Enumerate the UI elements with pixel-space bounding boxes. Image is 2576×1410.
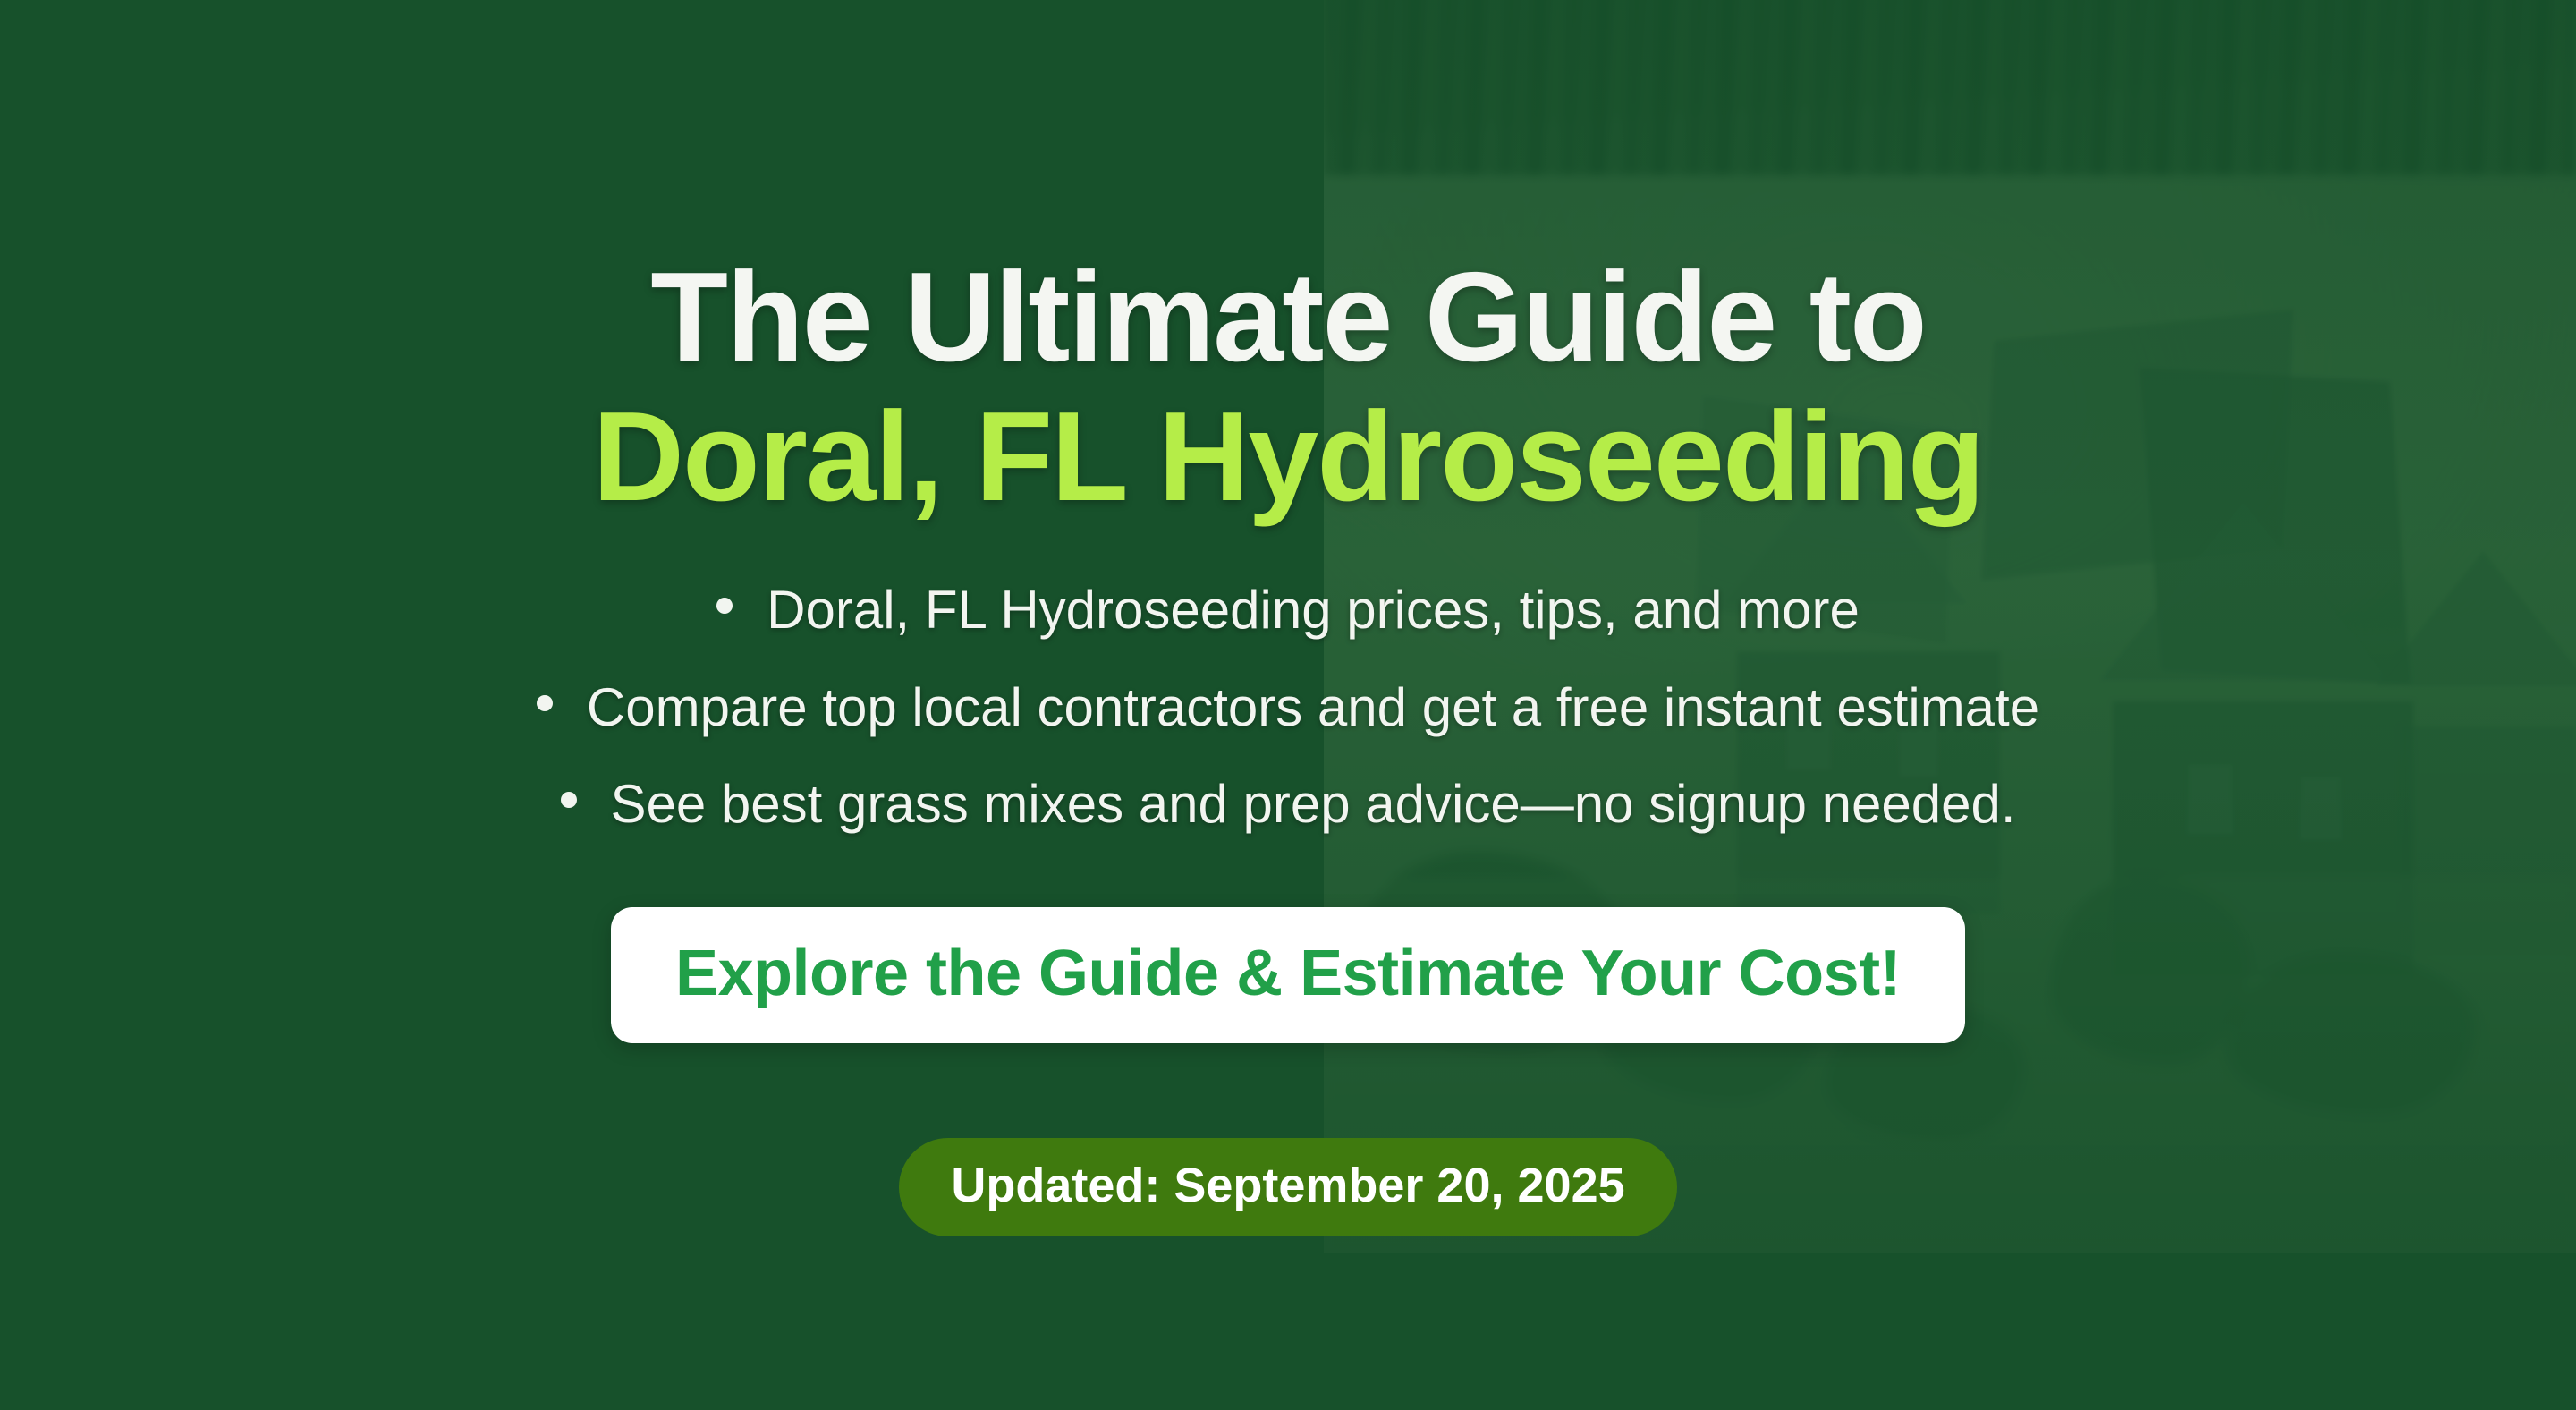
page-title: The Ultimate Guide to Doral, FL Hydrosee…	[0, 248, 2576, 527]
benefit-list: Doral, FL Hydroseeding prices, tips, and…	[0, 582, 2576, 873]
list-item-label: Doral, FL Hydroseeding prices, tips, and…	[767, 580, 1860, 640]
updated-date-badge: Updated: September 20, 2025	[899, 1138, 1676, 1236]
bullet-dot-icon	[716, 598, 733, 614]
hero-banner: The Ultimate Guide to Doral, FL Hydrosee…	[0, 0, 2576, 1410]
list-item: Doral, FL Hydroseeding prices, tips, and…	[0, 582, 2576, 639]
list-item-label: See best grass mixes and prep advice—no …	[611, 774, 2016, 834]
cta-container: Explore the Guide & Estimate Your Cost!	[0, 907, 2576, 1043]
banner-content: The Ultimate Guide to Doral, FL Hydrosee…	[0, 0, 2576, 1410]
headline-line-accent: Doral, FL Hydroseeding	[0, 387, 2576, 527]
headline-line-primary: The Ultimate Guide to	[0, 248, 2576, 387]
badge-container: Updated: September 20, 2025	[0, 1138, 2576, 1236]
explore-guide-button[interactable]: Explore the Guide & Estimate Your Cost!	[611, 907, 1965, 1043]
list-item: Compare top local contractors and get a …	[0, 679, 2576, 736]
bullet-dot-icon	[561, 792, 577, 808]
bullet-dot-icon	[537, 695, 553, 711]
list-item-label: Compare top local contractors and get a …	[587, 677, 2039, 737]
list-item: See best grass mixes and prep advice—no …	[0, 776, 2576, 833]
